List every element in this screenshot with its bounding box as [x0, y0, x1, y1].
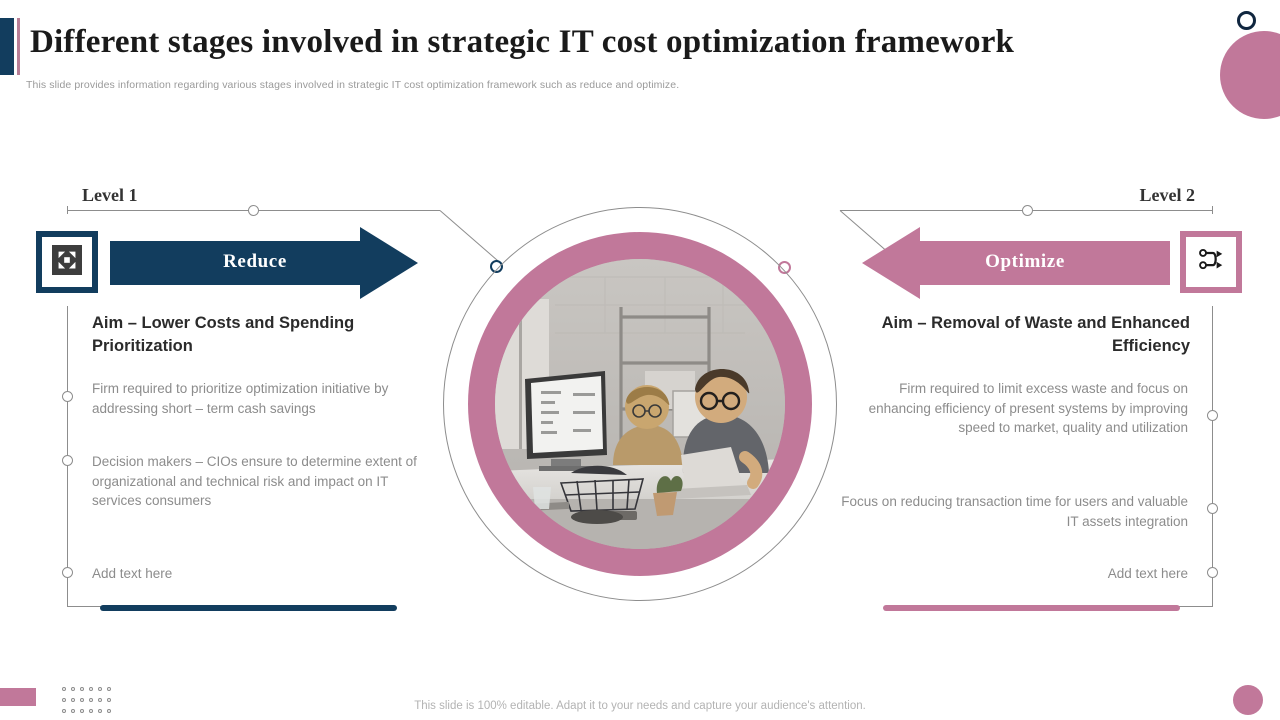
left-bullet-node-2 — [62, 455, 73, 466]
page-subtitle: This slide provides information regardin… — [26, 79, 679, 91]
level-2-label: Level 2 — [1140, 185, 1196, 206]
right-bullet-3: Add text here — [838, 564, 1188, 584]
dot-grid-dot — [107, 687, 111, 691]
dot-grid-dot — [71, 687, 75, 691]
left-bullet-2: Decision makers – CIOs ensure to determi… — [92, 452, 427, 511]
dot-grid-dot — [62, 687, 66, 691]
right-bullet-1: Firm required to limit excess waste and … — [838, 379, 1188, 438]
right-vertical-spine — [1212, 306, 1213, 606]
left-column-heading: Aim – Lower Costs and Spending Prioritiz… — [92, 312, 422, 358]
left-diagonal-connector — [440, 210, 501, 263]
dot-grid-dot — [80, 687, 84, 691]
right-column-heading: Aim – Removal of Waste and Enhanced Effi… — [860, 312, 1190, 358]
left-bullet-3: Add text here — [92, 564, 427, 584]
level-1-label: Level 1 — [82, 185, 138, 206]
compress-arrows-icon — [52, 245, 82, 280]
right-bullet-node-2 — [1207, 503, 1218, 514]
right-top-tick — [1212, 206, 1213, 214]
decorative-circle-top-right — [1220, 31, 1280, 119]
page-title: Different stages involved in strategic I… — [30, 24, 1190, 61]
right-bottom-elbow — [1176, 606, 1213, 607]
left-bullet-node-1 — [62, 391, 73, 402]
slide-canvas: Different stages involved in strategic I… — [0, 0, 1280, 720]
reduce-icon-box — [36, 231, 98, 293]
footer-note: This slide is 100% editable. Adapt it to… — [0, 700, 1280, 712]
left-bullet-node-3 — [62, 567, 73, 578]
title-accent-navy-bar — [0, 18, 14, 75]
right-bottom-rule — [883, 605, 1180, 611]
right-bullet-2: Focus on reducing transaction time for u… — [838, 492, 1188, 531]
center-office-photo — [495, 259, 785, 549]
right-bullet-node-3 — [1207, 567, 1218, 578]
left-bullet-1: Firm required to prioritize optimization… — [92, 379, 427, 418]
process-gears-icon — [1196, 245, 1226, 280]
title-accent-mauve-bar — [17, 18, 20, 75]
left-top-node-dot — [248, 205, 259, 216]
reduce-arrow-label: Reduce — [110, 251, 400, 273]
left-bottom-rule — [100, 605, 397, 611]
optimize-arrow-label: Optimize — [880, 251, 1170, 273]
decorative-ring-icon — [1237, 11, 1256, 30]
left-bottom-elbow — [67, 606, 103, 607]
right-bullet-node-1 — [1207, 410, 1218, 421]
left-top-tick — [67, 206, 68, 214]
optimize-icon-box — [1180, 231, 1242, 293]
dot-grid-dot — [89, 687, 93, 691]
dot-grid-dot — [98, 687, 102, 691]
right-top-node-dot — [1022, 205, 1033, 216]
